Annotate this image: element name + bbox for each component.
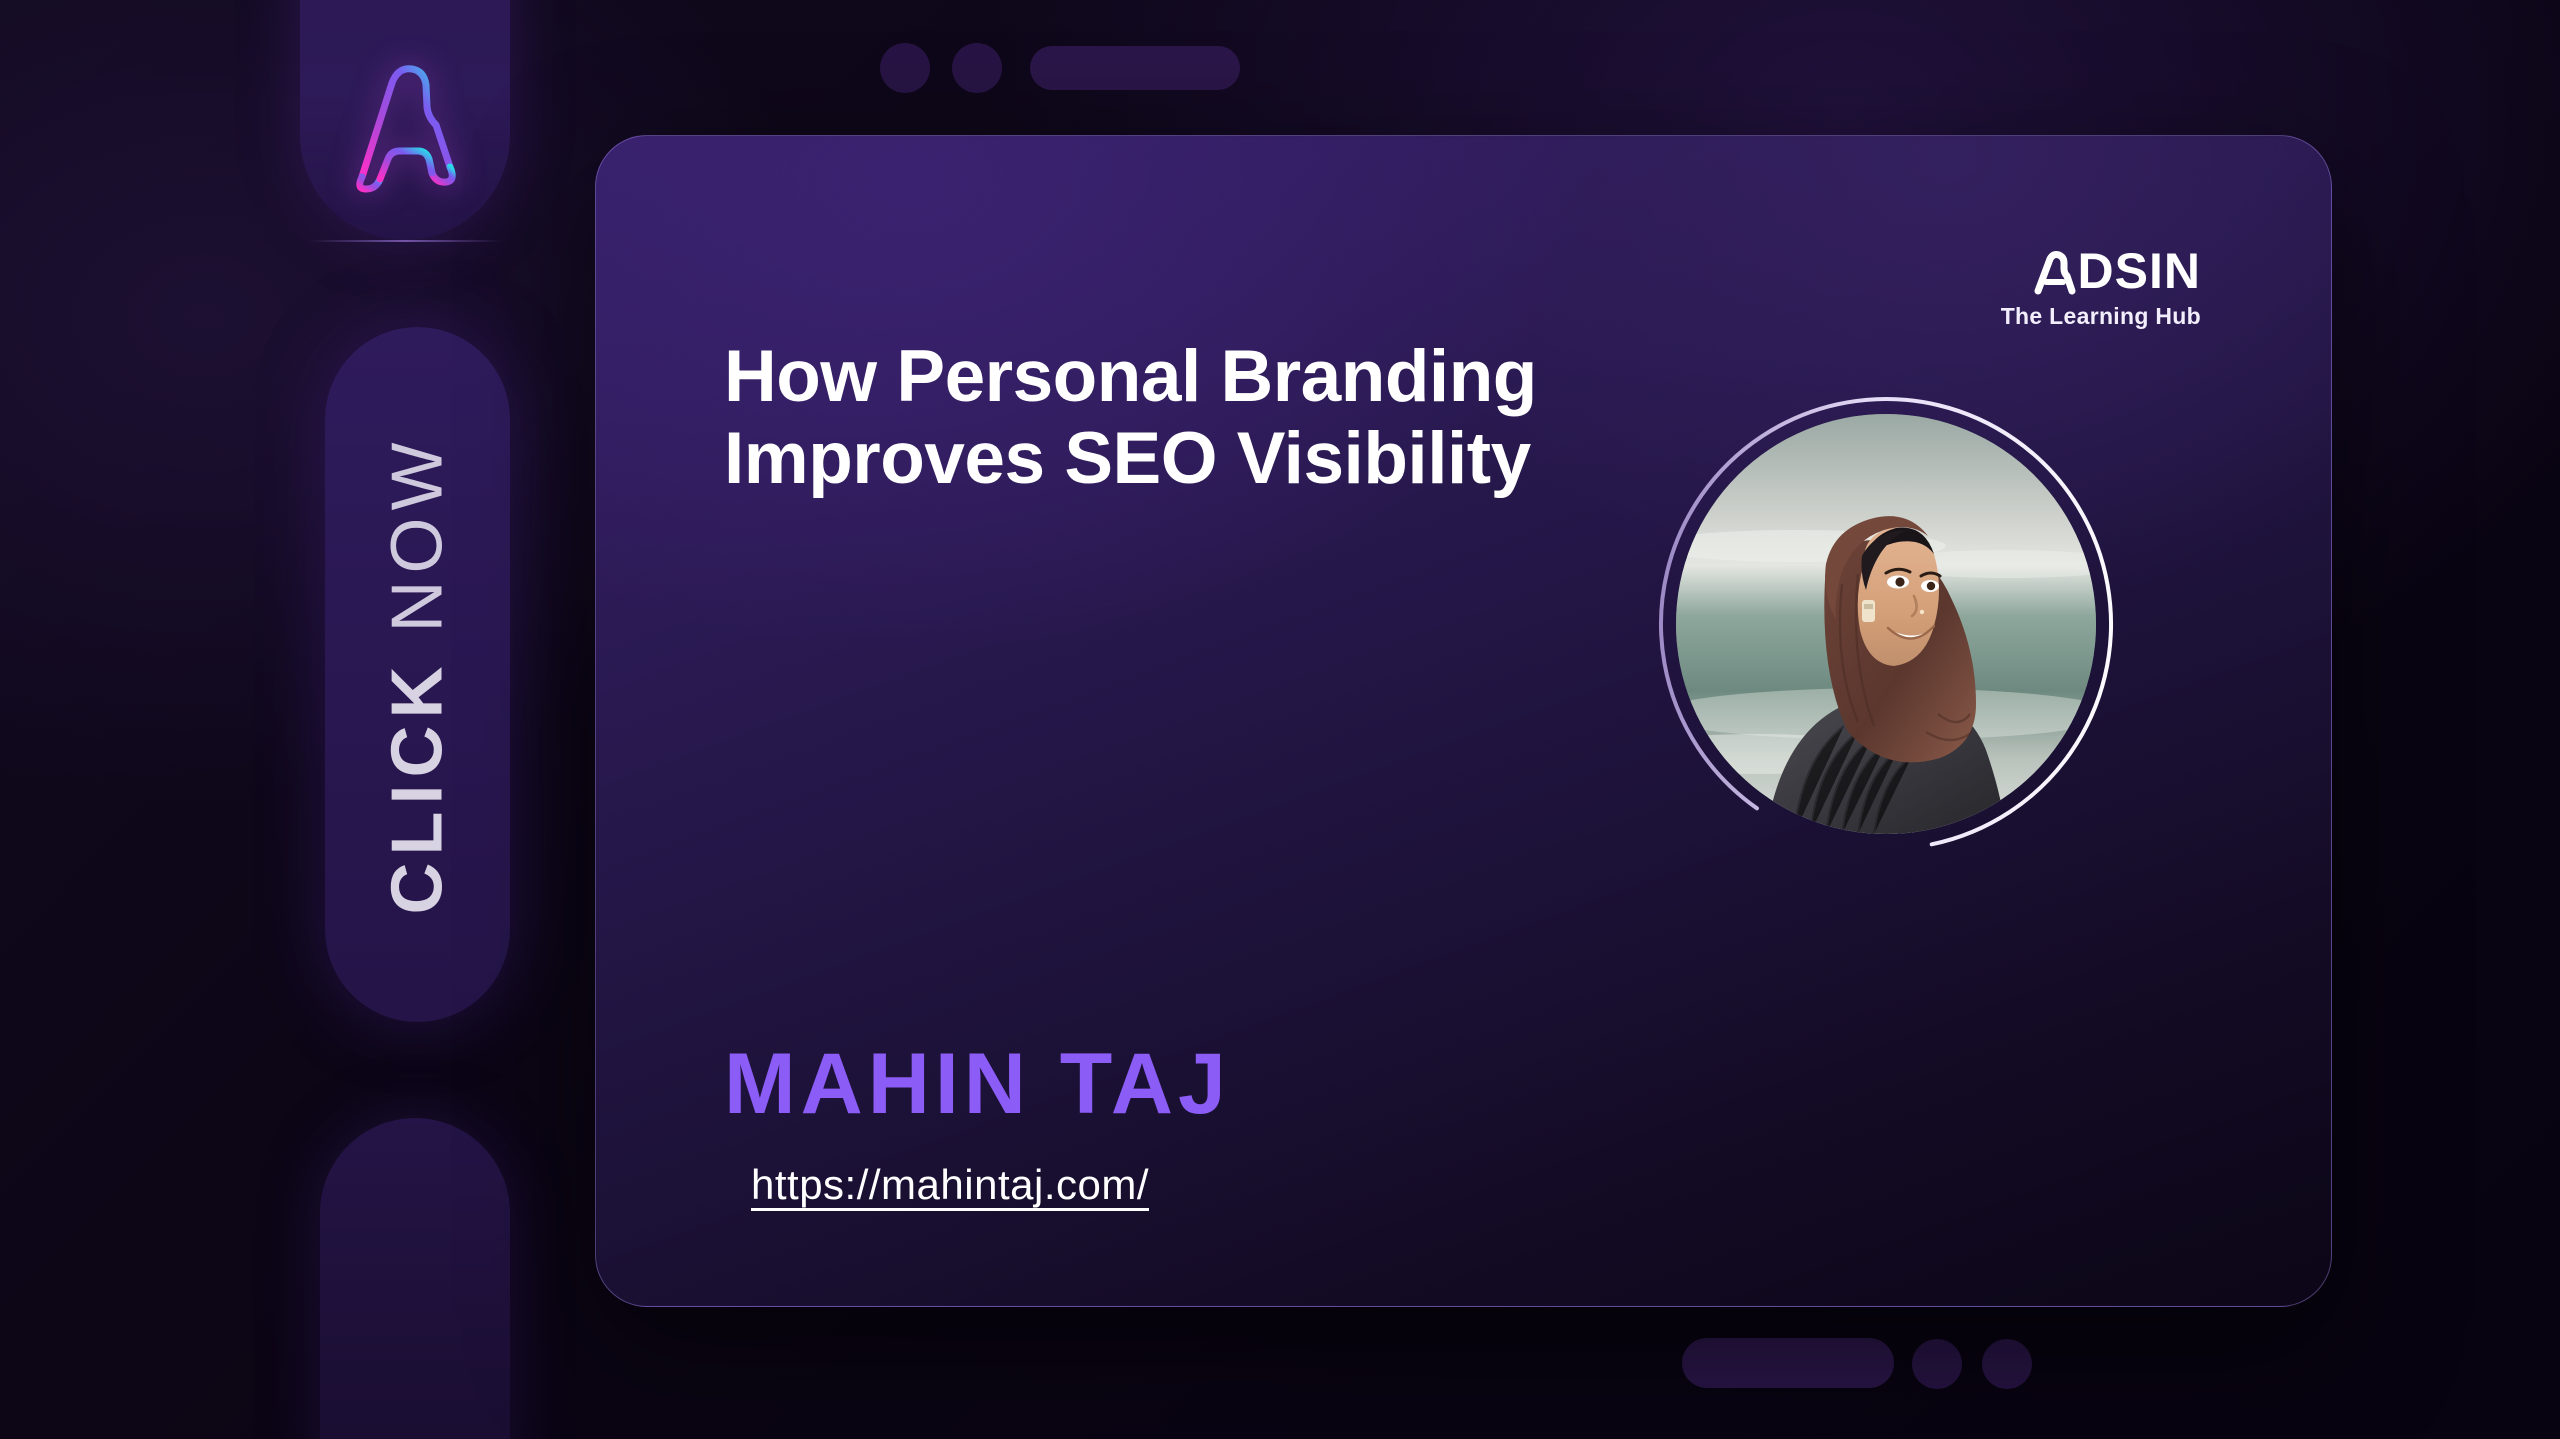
adsin-tagline: The Learning Hub (2001, 303, 2201, 330)
adsin-a-logo-icon (332, 55, 472, 200)
click-now-cta-panel[interactable] (325, 327, 510, 1022)
chrome-pill-bottom (1682, 1338, 1894, 1388)
chrome-pill-top (1030, 46, 1240, 90)
adsin-a-mark-icon (2034, 251, 2076, 295)
presenter-photo-wrap (1651, 389, 2121, 859)
slide-canvas: CLICK NOW DSIN The Learning Hub (0, 0, 2560, 1439)
presentation-card: DSIN The Learning Hub How Personal Brand… (595, 135, 2332, 1307)
chrome-dot-1 (880, 43, 930, 93)
avatar-ring (1651, 389, 2121, 859)
chrome-dot-2 (952, 43, 1002, 93)
chrome-dot-4 (1982, 1339, 2032, 1389)
rail-bottom-panel (320, 1118, 510, 1439)
adsin-wordmark-text: DSIN (2078, 246, 2201, 296)
presenter-website-link[interactable]: https://mahintaj.com/ (751, 1161, 1149, 1209)
chrome-dot-3 (1912, 1339, 1962, 1389)
presenter-name: MAHIN TAJ (724, 1041, 1231, 1127)
adsin-brand-logo: DSIN The Learning Hub (2001, 246, 2201, 330)
adsin-wordmark: DSIN (2001, 246, 2201, 296)
